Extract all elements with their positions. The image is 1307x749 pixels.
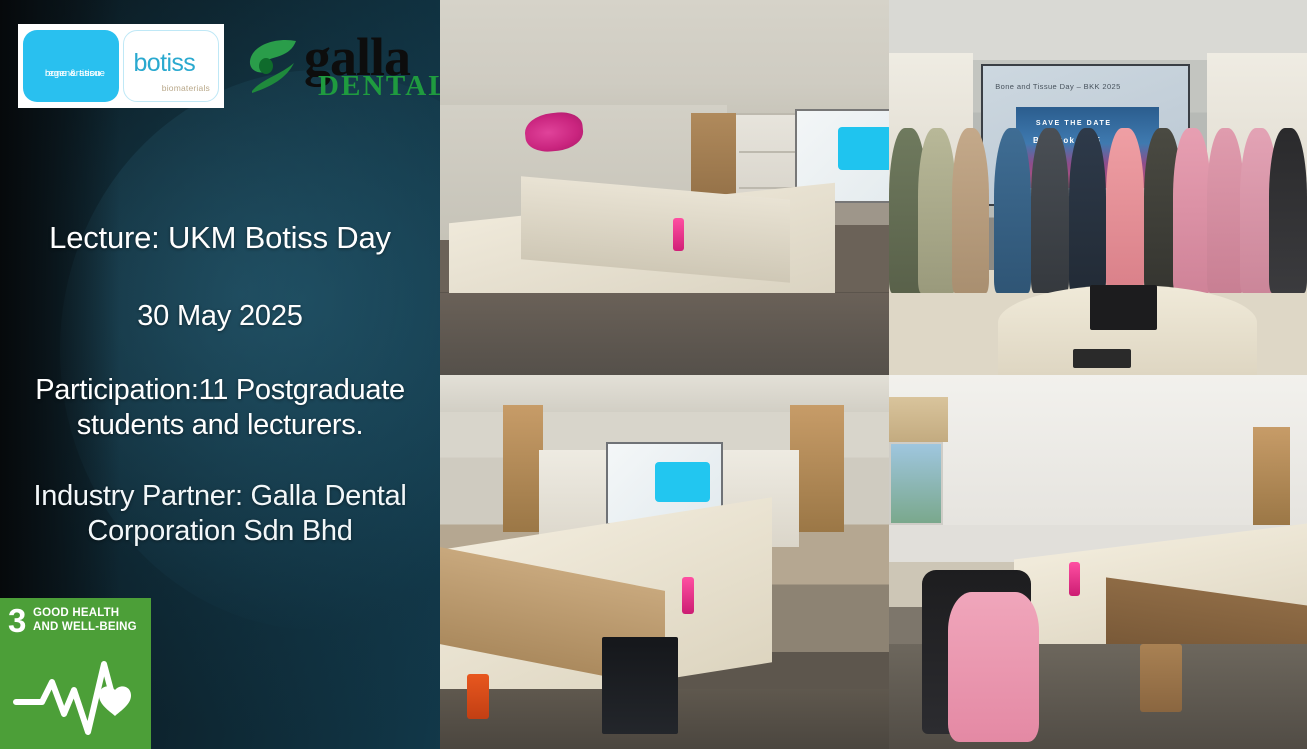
photo1-water-bottle — [673, 218, 684, 252]
photo4-seated-attendee — [948, 592, 1040, 742]
photo2-slide-title: Bone and Tissue Day – BKK 2025 — [995, 82, 1175, 91]
left-info-panel: bone & tissueregeneration botiss biomate… — [0, 0, 440, 749]
photo4-water-bottle — [1069, 562, 1080, 596]
heartbeat-heart-icon — [12, 654, 140, 740]
botiss-tile-caption: bone & tissueregeneration — [34, 78, 114, 91]
lecture-date: 30 May 2025 — [0, 298, 440, 334]
sdg-goal-number: 3 — [8, 604, 26, 637]
galla-dental-subtitle: DENTAL — [318, 72, 450, 101]
photo3-wood-panel-left — [503, 405, 543, 532]
sdg-goal-label: GOOD HEALTHAND WELL-BEING — [33, 607, 137, 634]
botiss-regeneration-tile: bone & tissueregeneration — [23, 30, 119, 102]
sdg-badge-header: 3 GOOD HEALTHAND WELL-BEING — [0, 598, 151, 654]
galla-swirl-icon — [246, 35, 302, 97]
photo4-window — [889, 442, 943, 524]
photo3-laptop — [602, 637, 678, 734]
botiss-wordmark: botiss — [133, 51, 195, 76]
photo4-window-blind — [889, 397, 948, 442]
lecture-title: Lecture: UKM Botiss Day — [0, 219, 440, 257]
photo-group-portrait: Bone and Tissue Day – BKK 2025 SAVE THE … — [889, 0, 1307, 375]
participation-text: Participation:11 Postgraduate students a… — [0, 373, 440, 443]
photo4-wood-door — [1253, 427, 1291, 524]
photo-collage: Wide view of seminar room with postgradu… — [440, 0, 1307, 749]
photo-lecture-room-wide: Wide view of seminar room with postgradu… — [440, 0, 889, 375]
botiss-tagline: biomaterials — [162, 83, 210, 93]
sdg-goal-3-badge: 3 GOOD HEALTHAND WELL-BEING — [0, 598, 151, 749]
industry-partner-text: Industry Partner: Galla Dental Corporati… — [0, 479, 440, 549]
photo4-wall — [889, 375, 1307, 525]
photo-seminar-right: Seminar room right-hand view with partic… — [889, 375, 1307, 749]
photo2-laptop — [1090, 285, 1157, 330]
photo3-slide-callout — [655, 462, 709, 503]
photo2-people-row — [889, 128, 1307, 293]
photo2-slide-line1: SAVE THE DATE — [1036, 120, 1112, 127]
photo3-water-bottle — [682, 577, 694, 614]
photo1-slide-callout — [838, 127, 889, 170]
logo-bar: bone & tissueregeneration botiss biomate… — [18, 24, 430, 108]
photo2-keyboard — [1073, 349, 1132, 368]
botiss-logo: bone & tissueregeneration botiss biomate… — [18, 24, 224, 108]
photo4-bag — [1140, 644, 1182, 711]
presentation-slide: bone & tissueregeneration botiss biomate… — [0, 0, 1307, 749]
botiss-name-tile: botiss biomaterials — [123, 30, 219, 102]
photo1-floor — [440, 293, 889, 376]
photo3-orange-tumbler — [467, 674, 489, 719]
photo-lecture-room-angle: Second angle of the seminar room showing… — [440, 375, 889, 749]
